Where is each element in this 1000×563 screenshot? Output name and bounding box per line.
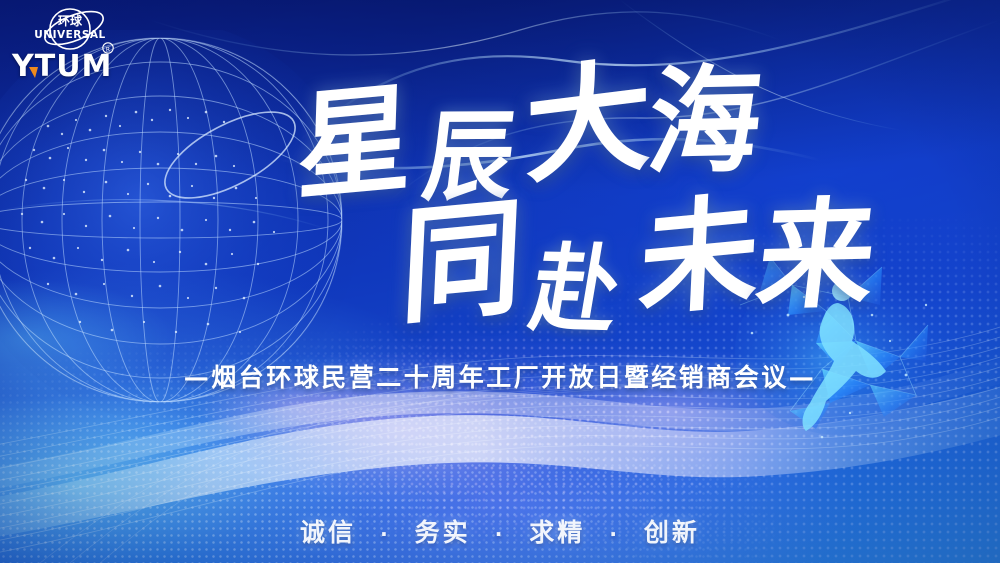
title-char: 同 <box>398 194 528 333</box>
logo-en-text: UNIVERSAL <box>34 29 105 41</box>
main-title: 星辰大海 同赴未来 <box>0 0 1000 340</box>
slogan-separator: · <box>366 522 405 546</box>
brand-logo: 环球 UNIVERSAL R YTUM <box>8 4 138 86</box>
slogan-word: 创新 <box>634 518 710 547</box>
slogan-word: 诚信 <box>290 518 366 547</box>
event-subtitle: —烟台环球民营二十周年工厂开放日暨经销商会议— <box>0 358 1000 394</box>
slogan-separator: · <box>481 522 520 546</box>
logo-cn-text: 环球 <box>58 13 83 28</box>
slogan-word: 务实 <box>405 518 481 547</box>
brand-wordmark: YTUM <box>12 52 112 82</box>
title-char: 赴 <box>524 242 627 340</box>
wordmark-text: YTUM <box>12 49 112 84</box>
title-char: 海 <box>642 63 770 182</box>
slogan-separator: · <box>595 522 634 546</box>
title-char: 大 <box>525 54 656 193</box>
company-slogan: 诚信·务实·求精·创新 <box>0 513 1000 549</box>
title-char: 星 <box>295 79 418 208</box>
title-char: 未 <box>636 191 763 325</box>
event-poster: 环球 UNIVERSAL R YTUM 星辰大海 同赴未来 —烟台环球民营二十周… <box>0 0 1000 563</box>
title-line-1: 星辰大海 <box>295 59 769 197</box>
title-char: 来 <box>752 196 884 317</box>
title-line-2: 同赴未来 <box>398 186 884 322</box>
wordmark-accent-icon <box>29 67 38 78</box>
slogan-word: 求精 <box>519 518 595 547</box>
